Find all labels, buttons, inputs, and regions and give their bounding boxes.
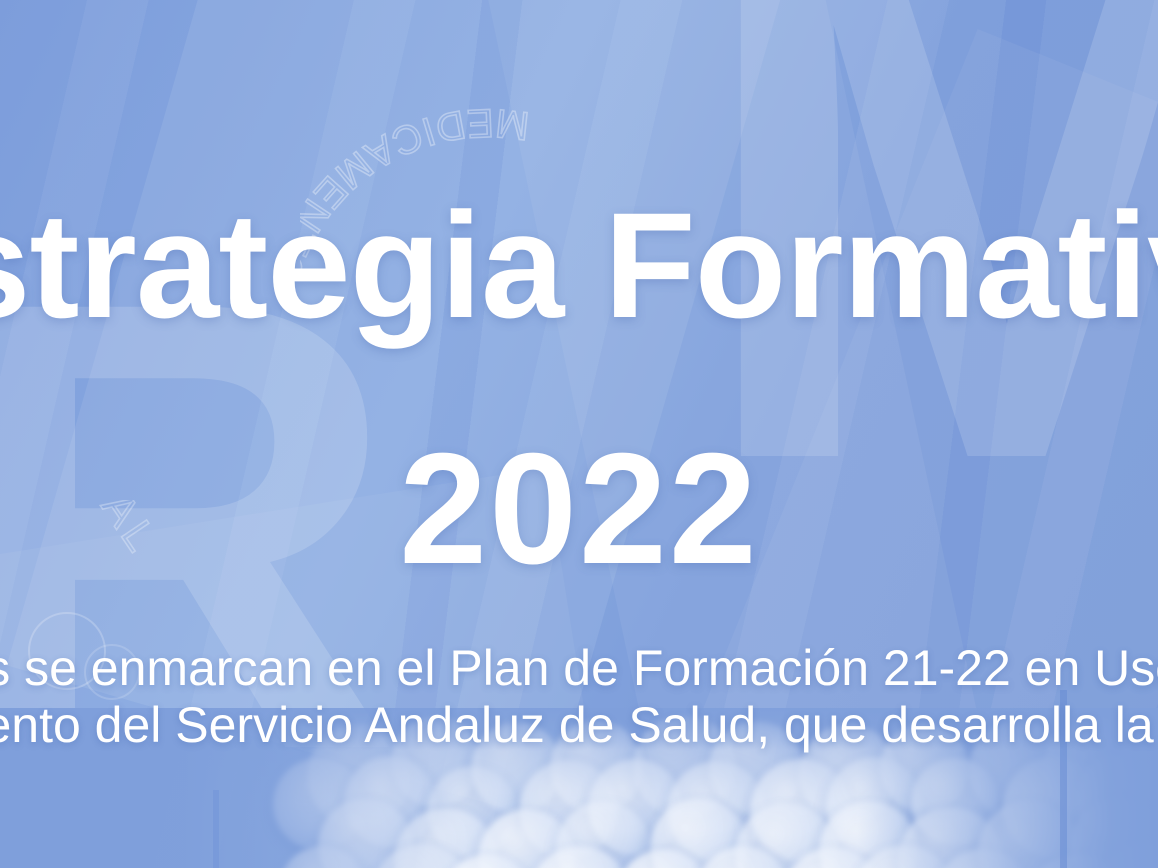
page-title: Estrategia Formativa [0, 190, 1158, 340]
promotional-banner: R M MEDICAMENTO RACIONAL Estrategia Form… [0, 0, 1158, 868]
subtitle-line-1: Los cursos se enmarcan en el Plan de For… [0, 640, 1158, 697]
subtitle-line-2: del Medicamento del Servicio Andaluz de … [0, 697, 1158, 754]
photo-seam-left [213, 790, 219, 868]
subtitle: Los cursos se enmarcan en el Plan de For… [0, 640, 1158, 754]
year-heading: 2022 [0, 430, 1158, 588]
